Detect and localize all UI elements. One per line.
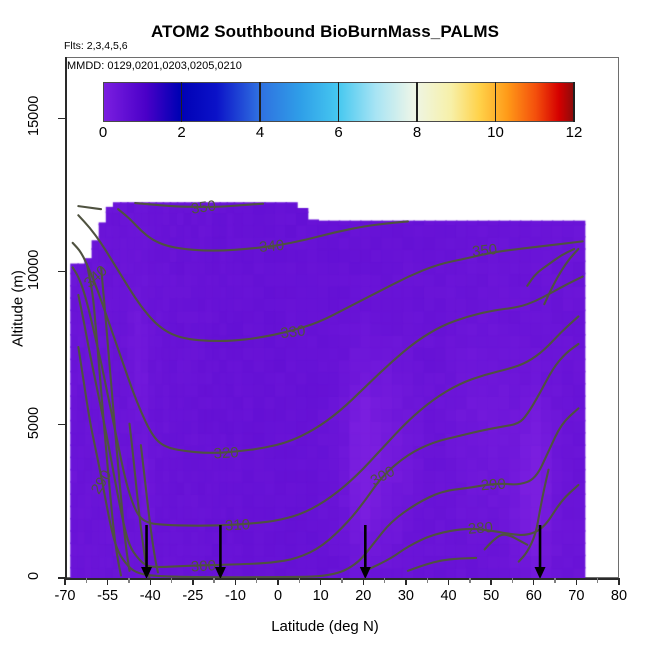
x-tick-label: 20 (355, 588, 371, 604)
colorbar-tick (181, 82, 182, 122)
colorbar: 024681012 (103, 82, 574, 122)
x-tick (576, 578, 577, 585)
colorbar-tick-label: 12 (566, 124, 583, 141)
x-tick-label: 70 (568, 588, 584, 604)
x-tick-label: 60 (526, 588, 542, 604)
x-minor-tick (597, 578, 598, 583)
colorbar-tick-labels: 024681012 (103, 124, 574, 146)
colorbar-tick (573, 82, 574, 122)
x-minor-tick (299, 578, 300, 583)
x-minor-tick (427, 578, 428, 583)
colorbar-tick (259, 82, 260, 122)
x-tick-label: 10 (313, 588, 329, 604)
x-tick (320, 578, 321, 585)
y-tick-label: 0 (26, 556, 42, 596)
colorbar-tick (338, 82, 339, 122)
x-minor-tick (86, 578, 87, 583)
x-tick-label: -25 (182, 588, 203, 604)
figure-canvas: ATOM2 Southbound BioBurnMass_PALMS Flts:… (0, 0, 650, 650)
x-tick (363, 578, 364, 585)
x-tick-label: 0 (274, 588, 282, 604)
colorbar-tick (495, 82, 496, 122)
x-minor-tick (554, 578, 555, 583)
x-tick (533, 578, 534, 585)
x-minor-tick (128, 578, 129, 583)
x-tick-label: -10 (225, 588, 246, 604)
x-tick-label: -70 (55, 588, 76, 604)
y-tick-label: 15000 (26, 96, 42, 136)
y-axis-title: Altitude (m) (10, 239, 27, 379)
colorbar-tick-label: 10 (487, 124, 504, 141)
flights-annotation: Flts: 2,3,4,5,6 (64, 40, 128, 52)
colorbar-tick-label: 4 (256, 124, 264, 141)
x-tick-label: -55 (97, 588, 118, 604)
x-tick-label: 80 (611, 588, 627, 604)
x-minor-tick (512, 578, 513, 583)
x-minor-tick (384, 578, 385, 583)
x-tick (618, 578, 619, 585)
x-tick (235, 578, 236, 585)
profile-marker-arrow (215, 525, 226, 578)
y-tick (58, 271, 66, 272)
x-tick-label: 30 (398, 588, 414, 604)
x-tick (107, 578, 108, 585)
chart-title: ATOM2 Southbound BioBurnMass_PALMS (0, 22, 650, 42)
x-minor-tick (213, 578, 214, 583)
profile-marker-arrow (359, 525, 370, 578)
y-tick-label: 10000 (26, 250, 42, 290)
x-tick (277, 578, 278, 585)
y-axis-line (65, 57, 67, 578)
y-tick (58, 424, 66, 425)
colorbar-tick-label: 2 (177, 124, 185, 141)
x-tick (405, 578, 406, 585)
profile-marker-arrow (534, 525, 545, 578)
y-tick (58, 118, 66, 119)
x-minor-tick (341, 578, 342, 583)
x-tick (448, 578, 449, 585)
x-tick (490, 578, 491, 585)
x-minor-tick (256, 578, 257, 583)
colorbar-tick-label: 8 (413, 124, 421, 141)
x-axis-title: Latitude (deg N) (0, 618, 650, 635)
profile-marker-arrow (141, 525, 152, 578)
x-tick-label: 40 (440, 588, 456, 604)
x-tick (192, 578, 193, 585)
x-tick (150, 578, 151, 585)
y-tick (58, 577, 66, 578)
y-tick-label: 5000 (26, 403, 42, 443)
colorbar-tick (416, 82, 417, 122)
colorbar-tick-label: 6 (334, 124, 342, 141)
x-tick (64, 578, 65, 585)
x-minor-tick (171, 578, 172, 583)
x-tick-label: -40 (140, 588, 161, 604)
x-minor-tick (469, 578, 470, 583)
colorbar-tick-label: 0 (99, 124, 107, 141)
x-tick-label: 50 (483, 588, 499, 604)
colorbar-ticks (103, 82, 574, 122)
